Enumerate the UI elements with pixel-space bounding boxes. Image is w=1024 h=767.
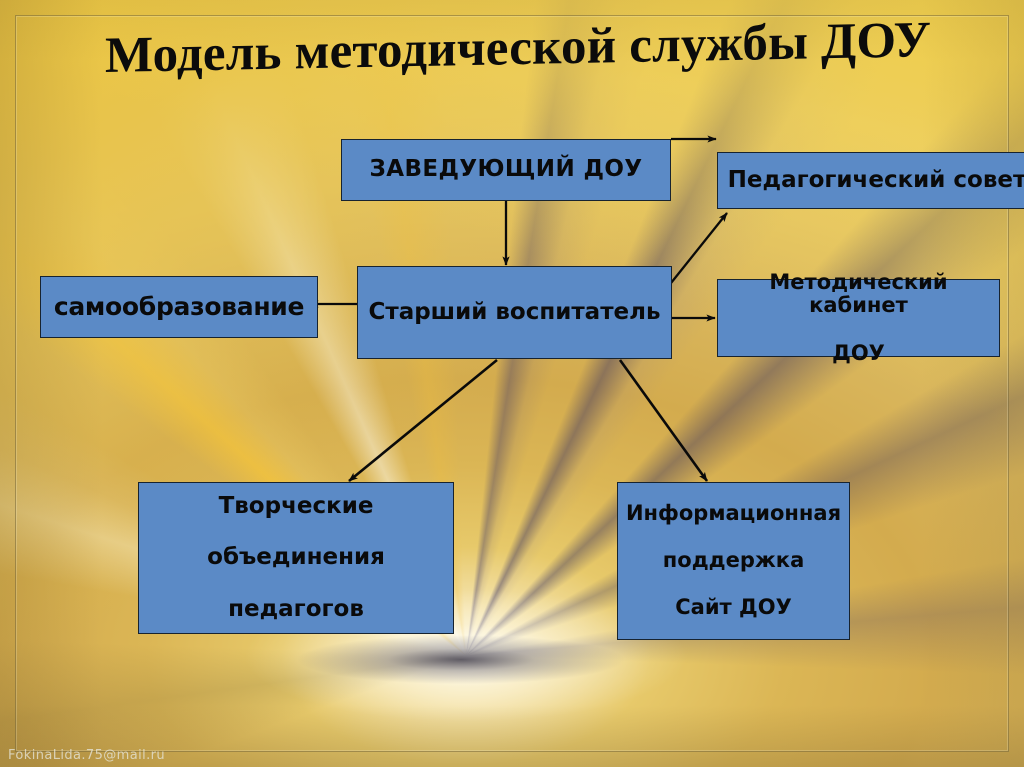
node-methodical-office-line-2: ДОУ (724, 342, 993, 366)
node-creative-associations-label: Творческие объединения педагогов (195, 494, 397, 623)
node-creative-associations-line-2: объединения (201, 545, 391, 571)
node-information-support-line-1: Информационная (620, 502, 847, 526)
node-creative-associations-line-3: педагогов (201, 597, 391, 623)
node-information-support-line-2: поддержка (620, 549, 847, 573)
node-methodical-office[interactable]: Методический кабинет ДОУ (717, 279, 1000, 357)
node-head-label: ЗАВЕДУЮЩИЙ ДОУ (364, 157, 649, 183)
node-council-label: Педагогический совет (722, 168, 1024, 194)
node-information-support[interactable]: Информационная поддержка Сайт ДОУ (617, 482, 850, 640)
node-information-support-label: Информационная поддержка Сайт ДОУ (614, 502, 853, 620)
node-creative-associations[interactable]: Творческие объединения педагогов (138, 482, 454, 634)
node-senior-educator[interactable]: Старший воспитатель (357, 266, 672, 359)
node-methodical-office-label: Методический кабинет ДОУ (718, 271, 999, 365)
node-self-education-label: самообразование (48, 293, 310, 321)
node-information-support-line-3: Сайт ДОУ (620, 596, 847, 620)
node-self-education[interactable]: самообразование (40, 276, 318, 338)
slide-canvas: Модель методической службы ДОУ ЗАВЕДУЮЩИ… (0, 0, 1024, 767)
node-senior-educator-label: Старший воспитатель (362, 300, 666, 326)
node-head-of-preschool[interactable]: ЗАВЕДУЮЩИЙ ДОУ (341, 139, 671, 201)
watermark-email: FokinaLida.75@mail.ru (8, 748, 165, 763)
node-methodical-office-line-1: Методический кабинет (724, 271, 993, 318)
node-creative-associations-line-1: Творческие (201, 494, 391, 520)
node-pedagogical-council[interactable]: Педагогический совет (717, 152, 1024, 209)
background-vignette (0, 0, 1024, 767)
